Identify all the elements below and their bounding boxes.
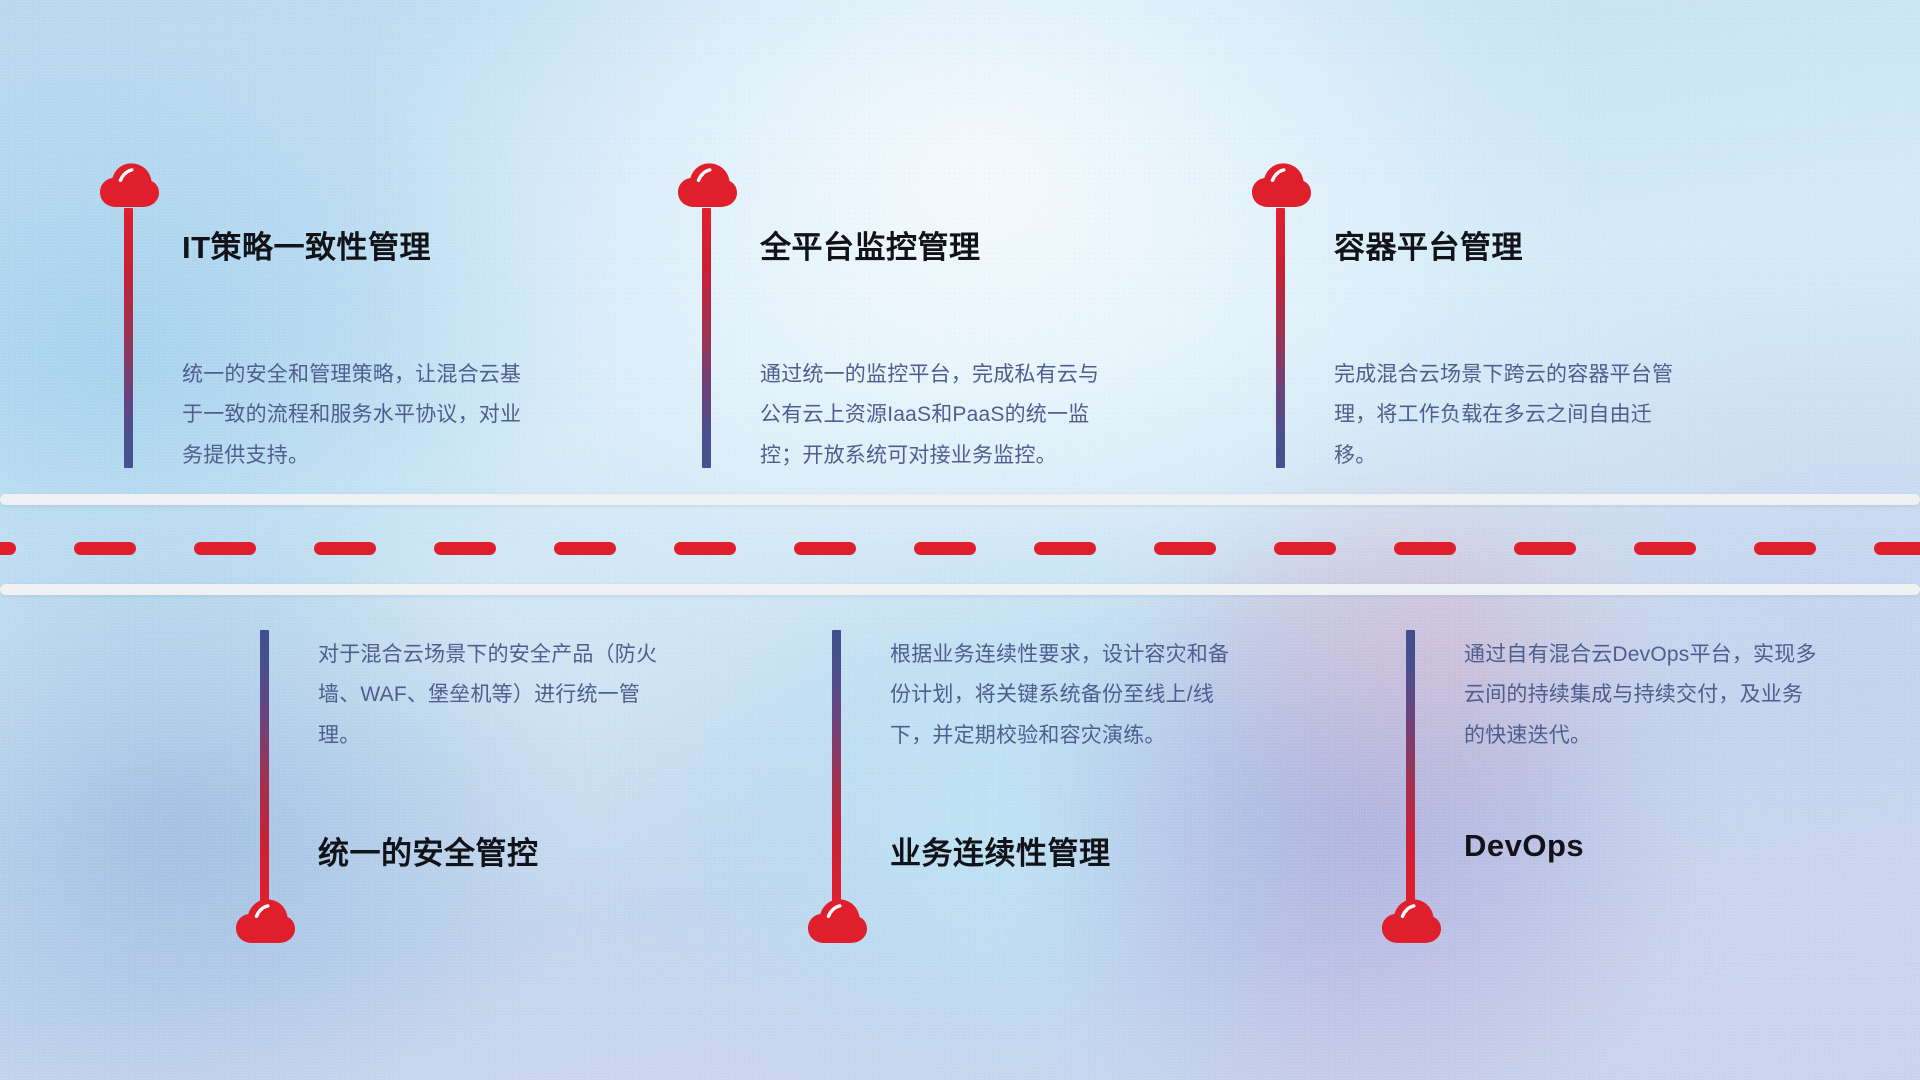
cloud-icon <box>98 160 160 210</box>
road-dash-segment <box>314 542 376 555</box>
feature-title: 全平台监控管理 <box>760 222 981 267</box>
connector-stem <box>832 630 841 902</box>
road-dash-segment <box>0 542 16 555</box>
road-edge-bottom <box>0 584 1920 595</box>
road-dash-segment <box>1754 542 1816 555</box>
feature-description: 完成混合云场景下跨云的容器平台管理，将工作负载在多云之间自由迁移。 <box>1334 355 1694 476</box>
road-dash-segment <box>1874 542 1920 555</box>
connector-stem <box>702 208 711 468</box>
feature-description: 统一的安全和管理策略，让混合云基于一致的流程和服务水平协议，对业务提供支持。 <box>182 355 542 476</box>
feature-description: 通过统一的监控平台，完成私有云与公有云上资源IaaS和PaaS的统一监控；开放系… <box>760 355 1120 476</box>
cloud-icon <box>1250 160 1312 210</box>
road-edge-top <box>0 494 1920 505</box>
cloud-icon <box>1380 896 1442 946</box>
road-dash-segment <box>794 542 856 555</box>
road-dash-segment <box>1514 542 1576 555</box>
road-dash-segment <box>554 542 616 555</box>
road-dash-segment <box>434 542 496 555</box>
connector-stem <box>1406 630 1415 902</box>
road-center-dashes <box>0 542 1920 555</box>
feature-title: 容器平台管理 <box>1334 222 1523 267</box>
road-dash-segment <box>74 542 136 555</box>
road-dash-segment <box>1634 542 1696 555</box>
cloud-icon <box>806 896 868 946</box>
connector-stem <box>1276 208 1285 468</box>
feature-description: 通过自有混合云DevOps平台，实现多云间的持续集成与持续交付，及业务的快速迭代… <box>1464 635 1820 756</box>
feature-title: 统一的安全管控 <box>318 828 539 873</box>
feature-description: 对于混合云场景下的安全产品（防火墙、WAF、堡垒机等）进行统一管理。 <box>318 635 674 756</box>
road-dash-segment <box>1154 542 1216 555</box>
road-dash-segment <box>1034 542 1096 555</box>
road-dash-segment <box>914 542 976 555</box>
cloud-icon <box>676 160 738 210</box>
road-dash-segment <box>1394 542 1456 555</box>
infographic-canvas: IT策略一致性管理 统一的安全和管理策略，让混合云基于一致的流程和服务水平协议，… <box>0 0 1920 1080</box>
feature-title: DevOps <box>1464 828 1584 864</box>
road-dash-segment <box>674 542 736 555</box>
connector-stem <box>260 630 269 902</box>
feature-title: IT策略一致性管理 <box>182 222 431 267</box>
cloud-icon <box>234 896 296 946</box>
road-dash-segment <box>194 542 256 555</box>
connector-stem <box>124 208 133 468</box>
feature-title: 业务连续性管理 <box>890 828 1111 873</box>
road-dash-segment <box>1274 542 1336 555</box>
feature-description: 根据业务连续性要求，设计容灾和备份计划，将关键系统备份至线上/线下，并定期校验和… <box>890 635 1246 756</box>
